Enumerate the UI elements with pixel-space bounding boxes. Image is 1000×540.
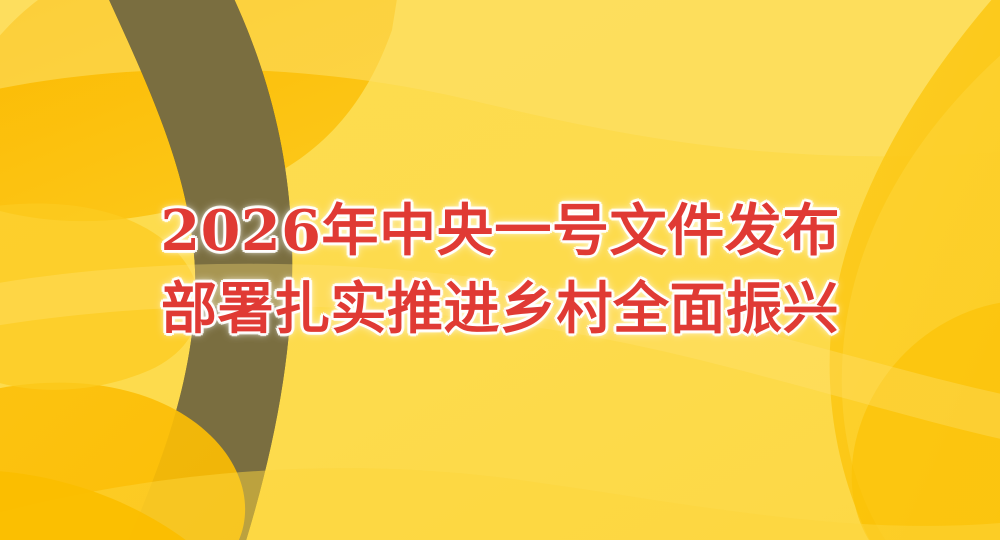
poster-banner: 2026年中央一号文件发布 部署扎实推进乡村全面振兴: [0, 0, 1000, 540]
background-decoration: [0, 0, 1000, 540]
